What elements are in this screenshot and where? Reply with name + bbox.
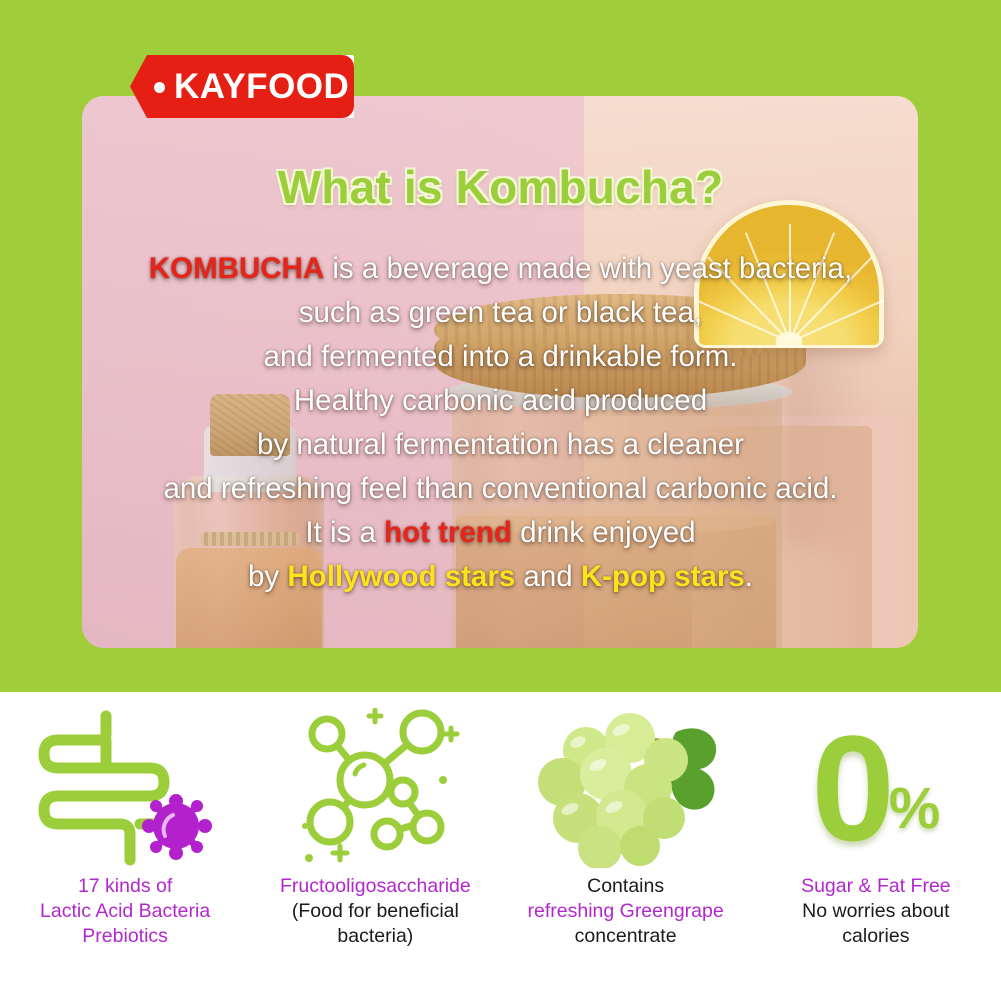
body-line: and fermented into a drinkable form. <box>70 335 931 379</box>
body-line: such as green tea or black tea, <box>70 291 931 335</box>
body-segment: It is a <box>305 516 384 549</box>
caption-line: Sugar & Fat Free <box>801 874 951 899</box>
caption-line: bacteria) <box>280 924 471 949</box>
hero-body-copy: KOMBUCHA is a beverage made with yeast b… <box>70 247 931 599</box>
body-segment: drink enjoyed <box>512 516 696 549</box>
caption-line: calories <box>801 924 951 949</box>
caption-line: Prebiotics <box>40 924 210 949</box>
logo-dot-icon <box>154 82 165 93</box>
feature-item-lactic-acid-bacteria: 17 kinds of Lactic Acid Bacteria Prebiot… <box>0 692 250 1001</box>
caption-line: (Food for beneficial <box>280 899 471 924</box>
body-segment: and fermented into a drinkable form. <box>264 340 738 373</box>
green-grape-icon <box>526 708 726 868</box>
feature-caption: Sugar & Fat Free No worries about calori… <box>801 874 951 949</box>
caption-line: 17 kinds of <box>40 874 210 899</box>
caption-line: Fructooligosaccharide <box>280 874 471 899</box>
feature-strip: 17 kinds of Lactic Acid Bacteria Prebiot… <box>0 692 1001 1001</box>
kayfood-logo[interactable]: KAYFOOD <box>130 55 354 118</box>
body-segment: and refreshing feel than conventional ca… <box>163 472 837 505</box>
feature-caption: Contains refreshing Greengrape concentra… <box>528 874 724 949</box>
body-line: KOMBUCHA is a beverage made with yeast b… <box>70 247 931 291</box>
body-line: by natural fermentation has a cleaner <box>70 423 931 467</box>
percent-symbol: % <box>889 775 941 842</box>
feature-caption: Fructooligosaccharide (Food for benefici… <box>280 874 471 949</box>
body-line: It is a hot trend drink enjoyed <box>70 511 931 555</box>
body-segment: hot trend <box>384 516 512 549</box>
body-segment: such as green tea or black tea, <box>299 296 702 329</box>
body-segment: K-pop stars <box>581 560 745 593</box>
body-segment: . <box>745 560 753 593</box>
logo-wordmark: KAYFOOD <box>174 55 346 118</box>
body-segment: by <box>248 560 287 593</box>
body-line: and refreshing feel than conventional ca… <box>70 467 931 511</box>
body-segment: Healthy carbonic acid produced <box>294 384 707 417</box>
caption-line: No worries about <box>801 899 951 924</box>
feature-item-zero-sugar-fat: 0 % Sugar & Fat Free No worries about ca… <box>751 692 1001 1001</box>
intestine-microbe-icon <box>28 708 223 868</box>
body-segment: is a beverage made with yeast bacteria, <box>324 252 852 285</box>
body-segment: Hollywood stars <box>287 560 515 593</box>
body-segment: KOMBUCHA <box>149 252 324 285</box>
body-line: by Hollywood stars and K-pop stars. <box>70 555 931 599</box>
zero-percent-icon: 0 % <box>811 708 940 868</box>
body-line: Healthy carbonic acid produced <box>70 379 931 423</box>
caption-line: Lactic Acid Bacteria <box>40 899 210 924</box>
feature-item-greengrape: Contains refreshing Greengrape concentra… <box>501 692 751 1001</box>
body-segment: by natural fermentation has a cleaner <box>257 428 744 461</box>
caption-line: concentrate <box>528 924 724 949</box>
molecule-icon <box>283 708 468 868</box>
caption-line: refreshing Greengrape <box>528 899 724 924</box>
feature-item-fructooligosaccharide: Fructooligosaccharide (Food for benefici… <box>250 692 500 1001</box>
body-segment: and <box>515 560 581 593</box>
infographic-page: KAYFOOD What is Kombucha? KOMBUCHA is a … <box>0 0 1001 1001</box>
page-title: What is Kombucha? <box>0 160 1001 214</box>
caption-line: Contains <box>528 874 724 899</box>
zero-value: 0 <box>811 722 894 854</box>
feature-caption: 17 kinds of Lactic Acid Bacteria Prebiot… <box>40 874 210 949</box>
